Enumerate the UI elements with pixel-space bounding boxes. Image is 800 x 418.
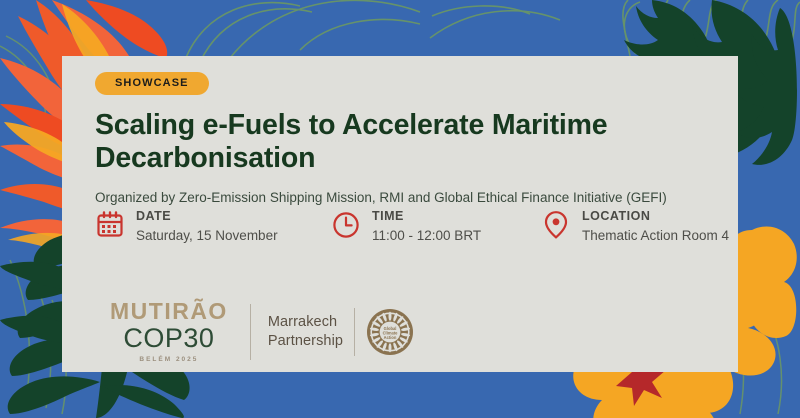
global-climate-action-emblem-icon: Global Climate Action [366, 308, 414, 356]
cop30-mutirao-text: MUTIRÃO [110, 300, 228, 323]
marrakech-partnership-logo: Marrakech Partnership [268, 308, 414, 356]
cop30-place-text: BELÉM 2025 [139, 356, 198, 363]
logo-lockup: MUTIRÃO COP30 BELÉM 2025 Marrakech Partn… [110, 300, 414, 363]
location-pin-icon [541, 208, 571, 242]
clock-icon [331, 208, 361, 242]
page-title: Scaling e-Fuels to Accelerate Maritime D… [95, 109, 695, 176]
emblem-divider [354, 308, 355, 356]
detail-value: Saturday, 15 November [136, 227, 278, 245]
event-detail-time: TIME 11:00 - 12:00 BRT [331, 208, 541, 244]
partnership-line-1: Marrakech [268, 313, 343, 332]
logo-divider [250, 304, 251, 360]
cop30-logo: MUTIRÃO COP30 BELÉM 2025 [110, 300, 228, 363]
emblem-line-3: Action [384, 334, 397, 339]
detail-value: 11:00 - 12:00 BRT [372, 227, 481, 245]
detail-label: DATE [136, 209, 278, 225]
detail-label: TIME [372, 209, 481, 225]
event-details-row: DATE Saturday, 15 November TIME 11:00 - … [95, 208, 729, 244]
partnership-line-2: Partnership [268, 332, 343, 351]
organizers-subtitle: Organized by Zero-Emission Shipping Miss… [95, 189, 718, 207]
event-detail-location: LOCATION Thematic Action Room 4 [541, 208, 729, 244]
detail-label: LOCATION [582, 209, 729, 225]
card-content: SHOWCASE Scaling e-Fuels to Accelerate M… [95, 72, 718, 206]
calendar-icon [95, 208, 125, 242]
event-poster: SHOWCASE Scaling e-Fuels to Accelerate M… [0, 0, 800, 418]
cop30-name-text: COP30 [123, 324, 214, 352]
showcase-badge: SHOWCASE [95, 72, 209, 95]
event-detail-date: DATE Saturday, 15 November [95, 208, 331, 244]
detail-value: Thematic Action Room 4 [582, 227, 729, 245]
